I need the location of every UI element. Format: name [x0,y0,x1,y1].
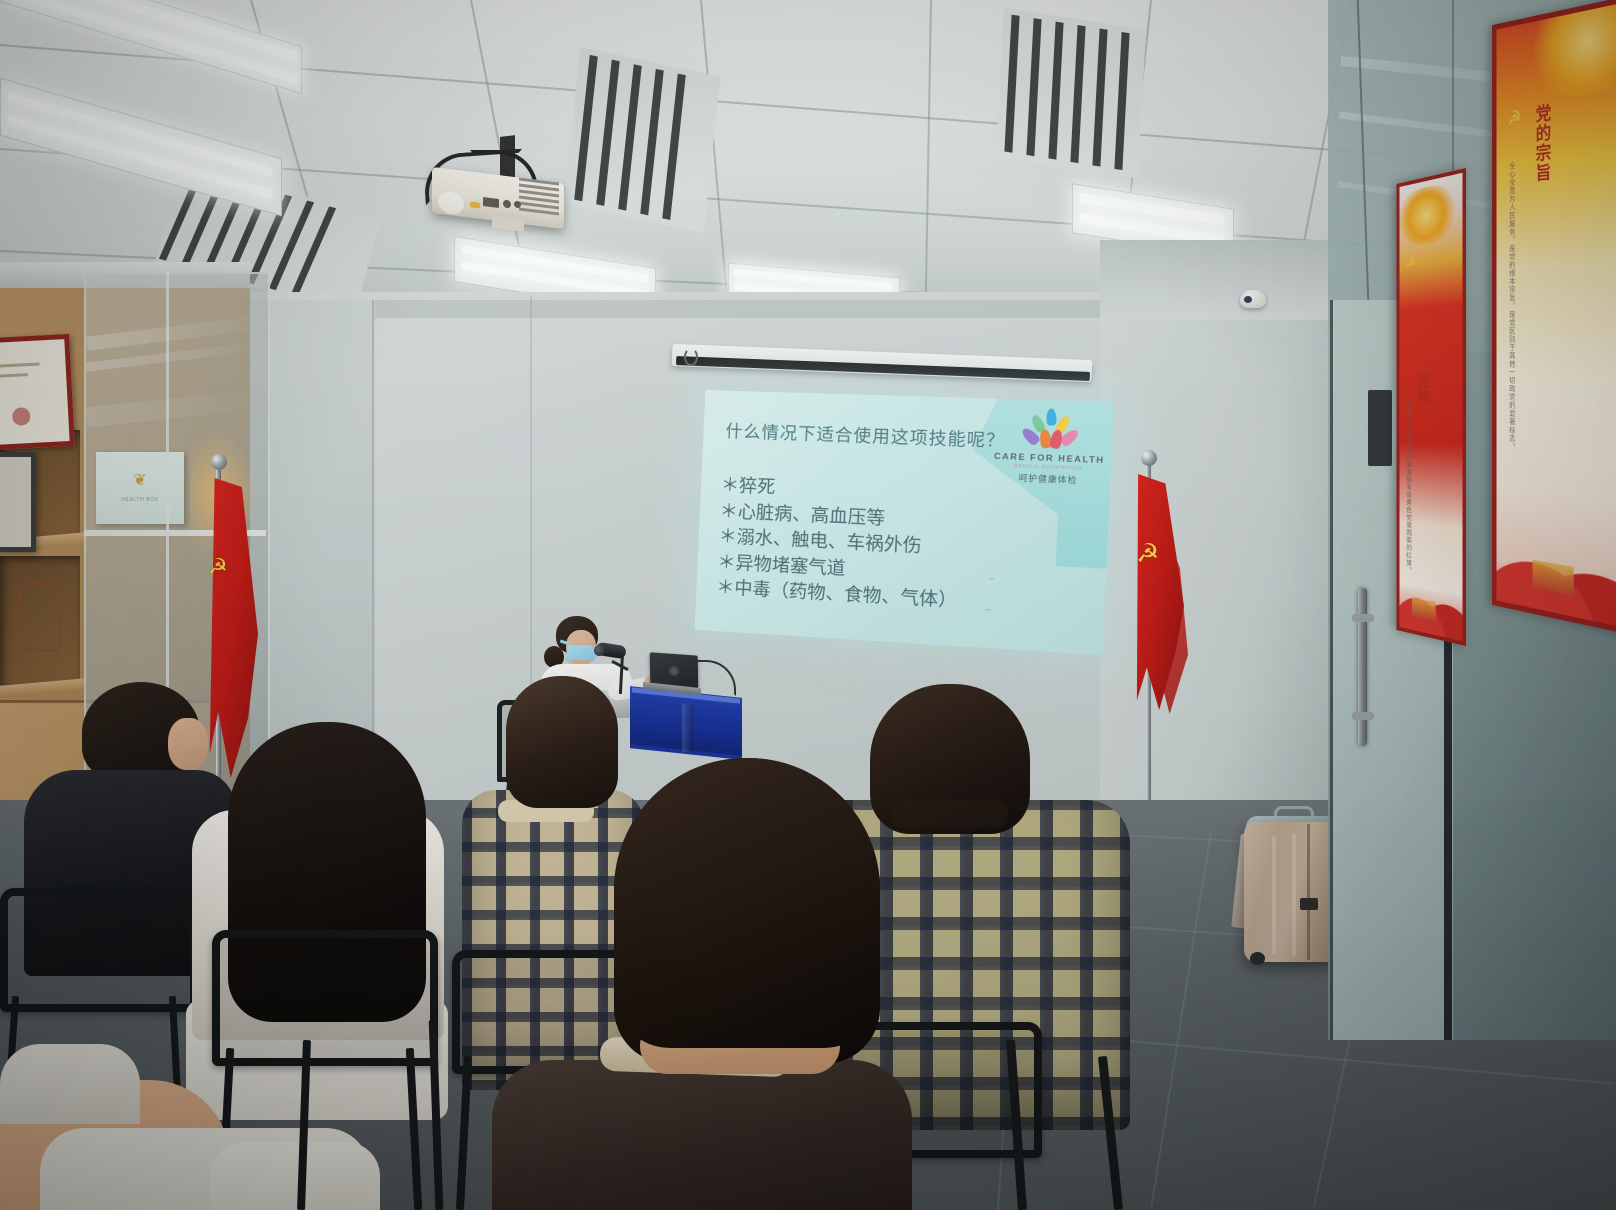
projector-vent [519,178,559,221]
wall-upper-band [250,300,1110,318]
laptop-logo-icon [669,666,679,676]
slide-bullet-list: ＊猝死 ＊心脏病、高血压等 ＊溺水、触电、车祸外伤 ＊异物堵塞气道 ＊中毒（药物… [716,473,1066,621]
slide-marker-icon: ⌐ [985,604,991,615]
door-handle-bracket [1352,712,1374,720]
poster-title: 党的宗旨 [1531,103,1553,184]
hammer-sickle-icon: ☭ [208,556,228,578]
lecture-room-photo: ❦ HEALTH BOX CARE FOR HEALTH MEDICAL EXA… [0,0,1616,1210]
attendee-plaid-left-hair [506,676,618,808]
hammer-sickle-icon: ☭ [1136,540,1159,566]
door-handle-bracket [1352,614,1374,622]
screen-hook-icon [684,348,698,366]
suitcase-rib [1272,836,1276,954]
projector-port [503,200,511,209]
framed-certificate-upper [0,334,75,450]
suitcase-rib [1292,834,1296,956]
poster-body: 中国共产党党旗为旗面缀有金黄色党徽图案的红旗。 [1404,400,1412,599]
party-poster-secondary: ☭ 党旗 中国共产党党旗为旗面缀有金黄色党徽图案的红旗。 [1397,168,1466,646]
hvac-vent-right [996,7,1146,178]
table-cloth-fold [682,703,693,752]
suitcase-latch-icon[interactable] [1300,898,1318,910]
shelf-ornament [14,580,62,652]
attendee-foreground-lap [0,1044,140,1124]
attendee-back-left-face [168,718,208,770]
door-lock-icon[interactable] [1368,390,1392,466]
projector-connector [470,201,480,208]
hvac-vent-center [564,47,721,233]
hammer-sickle-icon: ☭ [1406,254,1416,272]
right-wall-upper [1100,240,1330,320]
poster-body: 全心全意为人民服务，是党的根本宗旨，是党区别于其他一切政党的显著标志。 [1507,161,1516,538]
folding-chair[interactable] [0,888,198,1012]
projection-screen: CARE FOR HEALTH MEDICAL EXAMINATION 呵护健康… [695,390,1115,655]
camera-lens-icon [1244,296,1252,303]
attendee-front-center-hair [614,758,880,1048]
folding-chair[interactable] [212,930,438,1066]
product-box-logo-icon: ❦ [126,470,154,488]
microphone-capsule [594,645,605,656]
suitcase-seam [1307,824,1310,960]
poster-title: 党旗 [1415,373,1432,406]
flag-finial-icon [1141,450,1157,466]
attendee-foreground-knee [210,1142,380,1210]
projector-port [514,201,521,209]
slide-marker-icon: ⌐ [989,573,995,584]
suitcase-wheel-icon [1250,952,1265,965]
attendee-front-center-torso [492,1060,912,1210]
attendee-plaid-right-collar [892,800,1008,828]
projector-port [483,197,499,208]
door-pull-handle[interactable] [1358,588,1367,746]
framed-certificate-lower [0,452,36,552]
party-purpose-poster: ☭ 党的宗旨 全心全意为人民服务，是党的根本宗旨，是党区别于其他一切政党的显著标… [1492,0,1616,636]
flag-finial-icon [211,454,227,470]
hammer-sickle-icon: ☭ [1507,106,1521,131]
